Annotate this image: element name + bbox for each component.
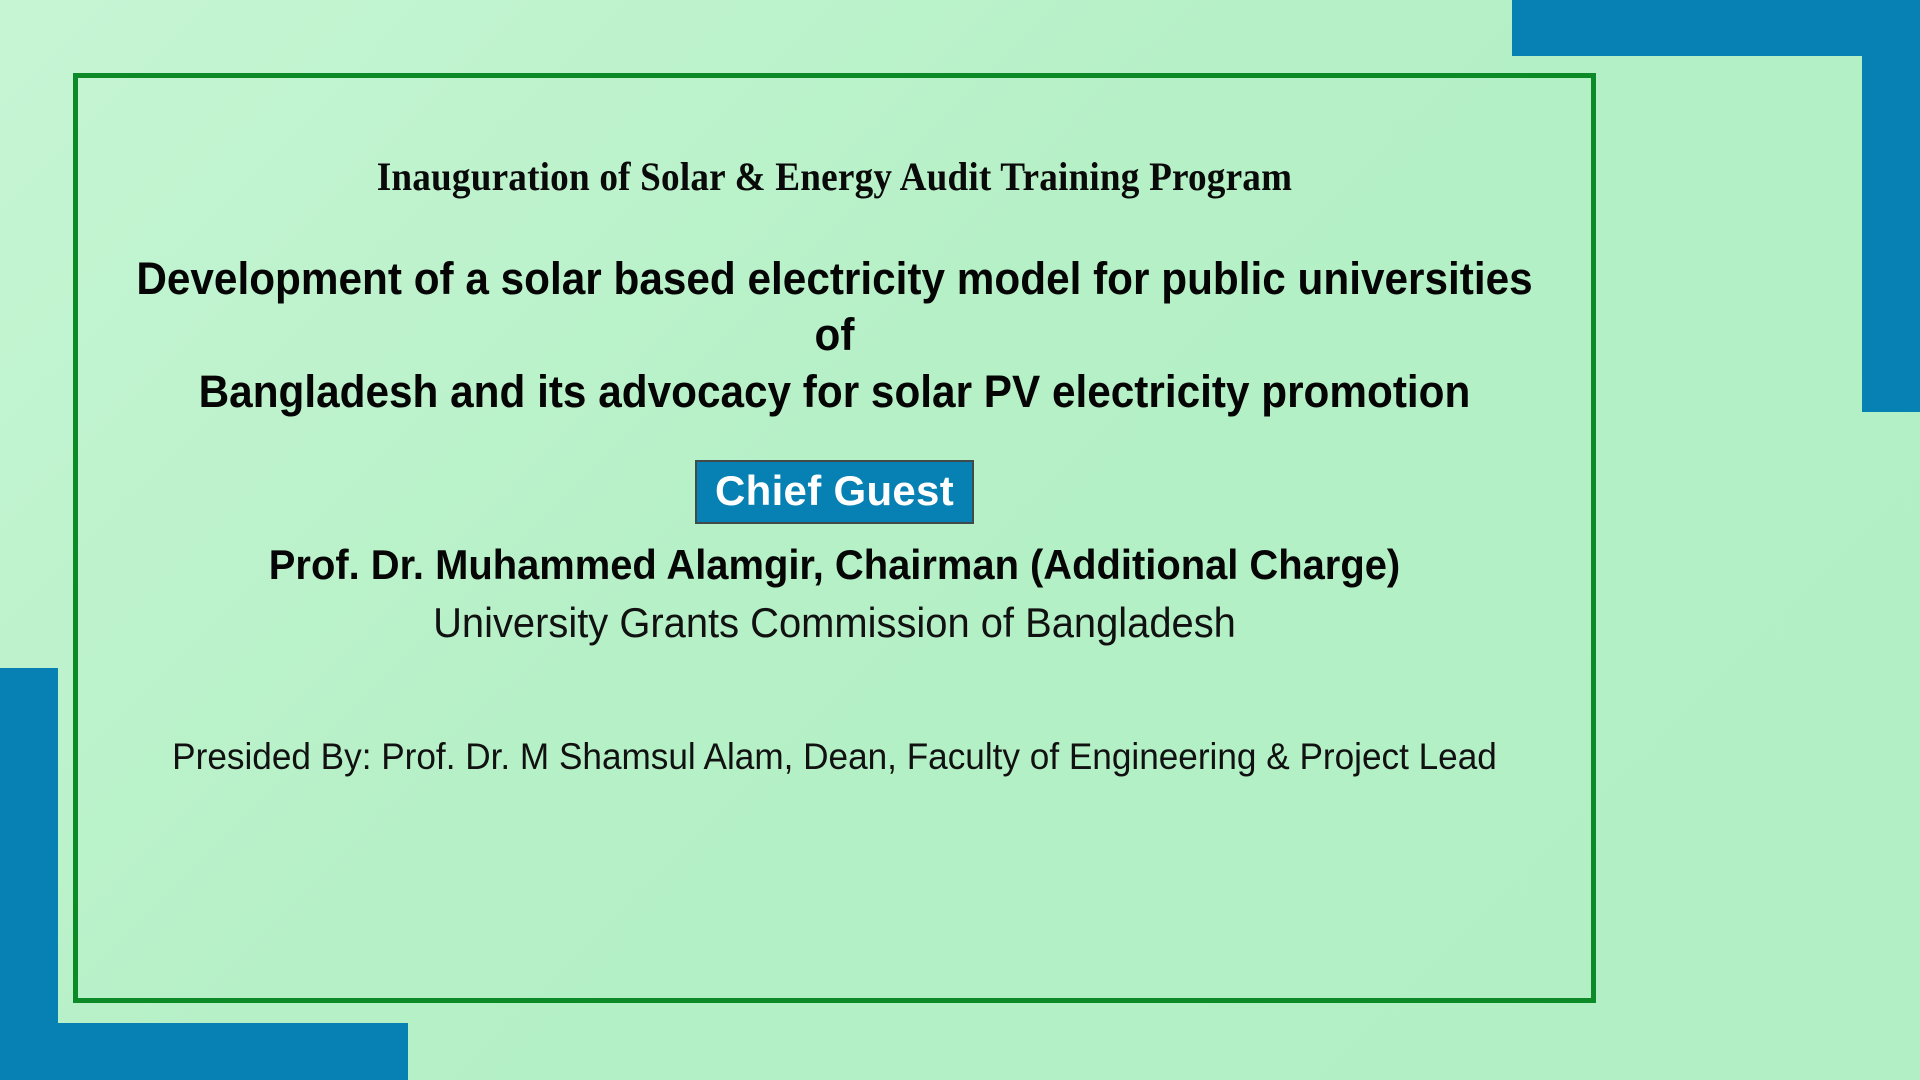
chief-guest-name: Prof. Dr. Muhammed Alamgir, Chairman (Ad… [128, 540, 1541, 590]
chief-guest-badge: Chief Guest [695, 460, 974, 524]
project-heading-line-2: of [136, 307, 1534, 363]
program-title: Inauguration of Solar & Energy Audit Tra… [143, 155, 1526, 199]
chief-guest-organization: University Grants Commission of Banglade… [128, 598, 1541, 648]
project-heading-line-1: Development of a solar based electricity… [136, 251, 1534, 307]
decoration-top-right-block [1512, 0, 1920, 56]
presided-by-text: Presided By: Prof. Dr. M Shamsul Alam, D… [128, 735, 1541, 779]
decoration-right-strip [1862, 0, 1920, 412]
project-heading: Development of a solar based electricity… [136, 251, 1534, 420]
decoration-left-strip [0, 668, 58, 1080]
slide-content: Inauguration of Solar & Energy Audit Tra… [73, 73, 1596, 1003]
project-heading-line-3: Bangladesh and its advocacy for solar PV… [136, 364, 1534, 420]
presentation-slide: Inauguration of Solar & Energy Audit Tra… [0, 0, 1920, 1080]
chief-guest-section: Chief Guest Prof. Dr. Muhammed Alamgir, … [91, 460, 1578, 649]
decoration-bottom-bar [0, 1023, 408, 1080]
